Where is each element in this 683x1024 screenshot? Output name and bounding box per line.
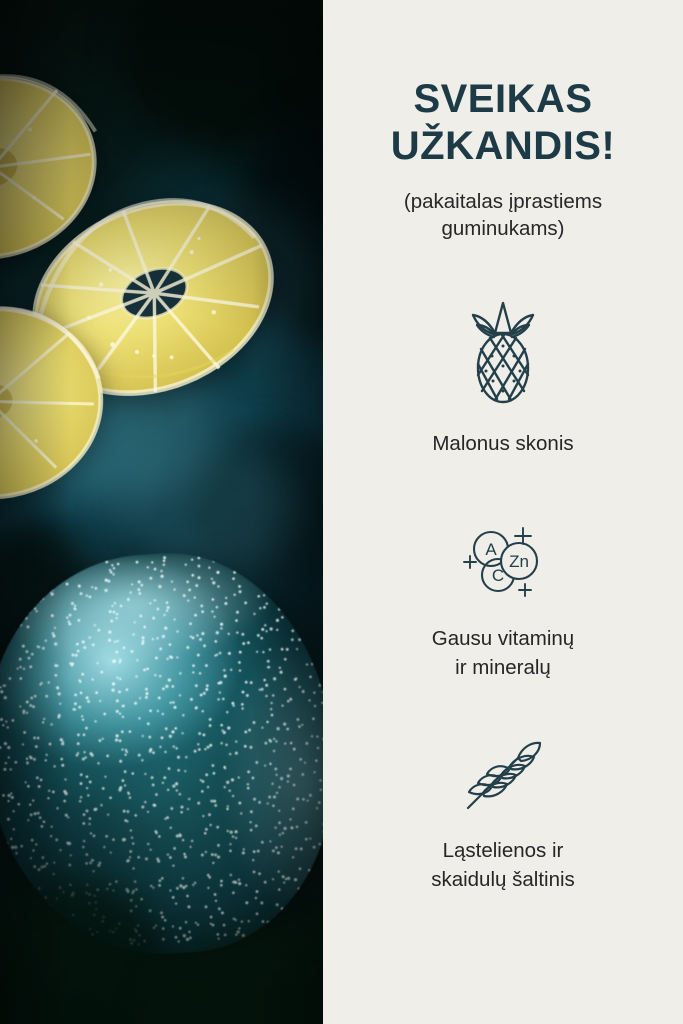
page-title: SVEIKAS UŽKANDIS! xyxy=(349,0,657,170)
vitamin-letter-zn: Zn xyxy=(509,552,529,571)
feature-list: Malonus skonis A C xyxy=(349,243,657,895)
feature-label-taste: Malonus skonis xyxy=(432,407,573,458)
photo-vignette xyxy=(0,0,323,1024)
feature-label-vitamins: Gausu vitaminų ir mineralų xyxy=(432,602,574,682)
product-photo xyxy=(0,0,323,1024)
vitamins-minerals-icon: A C Zn xyxy=(453,520,553,602)
vitamin-letter-a: A xyxy=(485,540,497,559)
page-subtitle: (pakaitalas įprastiems guminukams) xyxy=(358,170,648,243)
vitamin-letter-c: C xyxy=(492,566,504,585)
feature-item-vitamins: A C Zn xyxy=(349,520,657,682)
wheat-sprig-icon xyxy=(460,740,546,814)
feature-item-fibre: Ląstelienos ir skaidulų šaltinis xyxy=(349,740,657,894)
promo-poster: SVEIKAS UŽKANDIS! (pakaitalas įprastiems… xyxy=(0,0,683,1024)
pineapple-icon xyxy=(464,295,542,407)
feature-item-taste: Malonus skonis xyxy=(349,295,657,458)
content-panel: SVEIKAS UŽKANDIS! (pakaitalas įprastiems… xyxy=(323,0,683,1024)
feature-label-fibre: Ląstelienos ir skaidulų šaltinis xyxy=(431,814,575,894)
